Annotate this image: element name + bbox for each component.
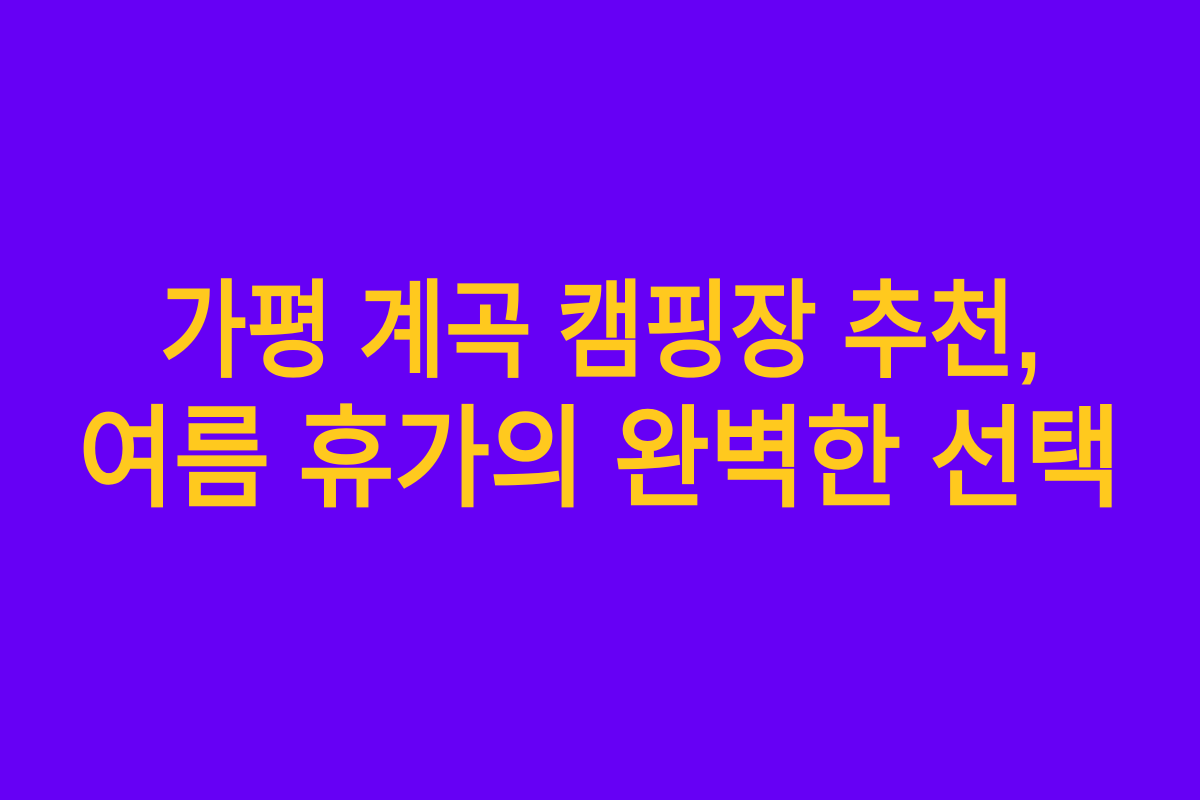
title-line-1: 가평 계곡 캠핑장 추천, [159,268,1040,396]
title-line-2: 여름 휴가의 완벽한 선택 [79,396,1122,524]
title-block: 가평 계곡 캠핑장 추천, 여름 휴가의 완벽한 선택 [0,268,1200,524]
thumbnail-banner: 가평 계곡 캠핑장 추천, 여름 휴가의 완벽한 선택 [0,0,1200,800]
